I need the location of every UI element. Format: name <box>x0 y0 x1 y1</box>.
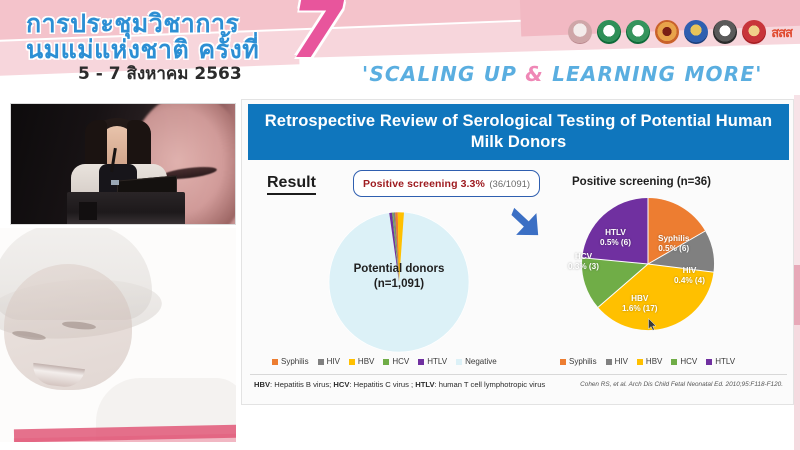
presentation-slide: Retrospective Review of Serological Test… <box>241 99 794 405</box>
legend-label-hcv: HCV <box>392 357 409 366</box>
footnote-hcv-value: : Hepatitis C virus ; <box>349 380 415 389</box>
pie-label-hbv: HBV 1.6% (17) <box>622 294 658 314</box>
legend-label-hiv: HIV <box>327 357 340 366</box>
conference-edition-number: 7 <box>290 0 344 70</box>
footnote-hcv-key: HCV <box>333 380 349 389</box>
footnote-divider <box>250 374 787 375</box>
abbreviation-footnote: HBV: Hepatitis B virus; HCV: Hepatitis C… <box>254 380 545 389</box>
positive-screening-legend: Syphilis HIV HBV HCV HTLV <box>560 357 735 366</box>
potential-donors-pie-chart: Potential donors (n=1,091) <box>284 204 514 354</box>
pie-label-hiv-value: 0.4% (4) <box>674 276 705 286</box>
conference-header-banner: การประชุมวิชาการ นมแม่แห่งชาติ ครั้งที่ … <box>0 0 800 92</box>
presentation-screenshot: การประชุมวิชาการ นมแม่แห่งชาติ ครั้งที่ … <box>0 0 800 450</box>
pie-label-syphilis: Syphilis 0.5% (6) <box>658 234 689 254</box>
legend-item-htlv: HTLV <box>418 357 447 366</box>
legend-swatch-syphilis <box>272 359 278 365</box>
legend-label-htlv: HTLV <box>715 357 735 366</box>
slide-title: Retrospective Review of Serological Test… <box>248 104 789 160</box>
baby-photo-backdrop <box>0 228 236 442</box>
legend-swatch-hcv <box>671 359 677 365</box>
conference-date: 5 - 7 สิงหาคม 2563 <box>78 60 242 87</box>
mouse-cursor <box>648 318 657 331</box>
legend-swatch-syphilis <box>560 359 566 365</box>
pie-label-hcv-name: HCV <box>568 252 599 262</box>
logo-university-seal-icon <box>713 20 737 44</box>
logo-thaihealth-sss-icon: สสส <box>771 22 792 43</box>
footnote-hbv-value: : Hepatitis B virus; <box>270 380 333 389</box>
positive-screening-pie-chart: Syphilis 0.5% (6) HIV 0.4% (4) HBV 1.6% … <box>562 192 752 350</box>
legend-item-hiv: HIV <box>606 357 628 366</box>
tagline-ampersand: & <box>525 62 544 86</box>
legend-item-hbv: HBV <box>637 357 662 366</box>
legend-swatch-hiv <box>606 359 612 365</box>
logo-royal-emblem-icon <box>684 20 708 44</box>
potential-donors-label-line2: (n=1,091) <box>284 277 514 292</box>
legend-item-syphilis: Syphilis <box>560 357 597 366</box>
pie-label-hbv-name: HBV <box>622 294 658 304</box>
speaker-name-badge <box>111 180 119 185</box>
legend-swatch-htlv <box>418 359 424 365</box>
legend-swatch-hbv <box>637 359 643 365</box>
callout-percent: Positive screening 3.3% <box>363 178 485 190</box>
speaker-webcam-feed <box>10 103 236 225</box>
legend-item-hcv: HCV <box>383 357 409 366</box>
legend-item-negative: Negative <box>456 357 497 366</box>
potential-donors-center-label: Potential donors (n=1,091) <box>284 262 514 292</box>
legend-item-hbv: HBV <box>349 357 374 366</box>
potential-donors-label-line1: Potential donors <box>284 262 514 277</box>
legend-swatch-negative <box>456 359 462 365</box>
legend-item-syphilis: Syphilis <box>272 357 309 366</box>
legend-label-hbv: HBV <box>646 357 662 366</box>
legend-swatch-hiv <box>318 359 324 365</box>
pie-label-htlv-value: 0.5% (6) <box>600 238 631 248</box>
sponsor-logo-row: สสส <box>568 20 792 44</box>
legend-label-htlv: HTLV <box>427 357 447 366</box>
tagline-post: LEARNING MORE' <box>544 62 763 86</box>
logo-nursing-council-icon <box>626 20 650 44</box>
legend-swatch-hbv <box>349 359 355 365</box>
legend-swatch-htlv <box>706 359 712 365</box>
podium-panel <box>79 202 97 220</box>
pie-label-hcv: HCV 0.3% (3) <box>568 252 599 272</box>
legend-swatch-hcv <box>383 359 389 365</box>
footnote-htlv-value: : human T cell lymphotropic virus <box>435 380 546 389</box>
legend-item-hcv: HCV <box>671 357 697 366</box>
pie-label-hiv: HIV 0.4% (4) <box>674 266 705 286</box>
source-citation: Cohen RS, et al. Arch Dis Child Fetal Ne… <box>580 381 783 388</box>
potential-donors-legend: Syphilis HIV HBV HCV HTLV Negative <box>272 357 497 366</box>
legend-item-htlv: HTLV <box>706 357 735 366</box>
conference-tagline: 'SCALING UP & LEARNING MORE' <box>362 62 763 86</box>
logo-red-seal-icon <box>742 20 766 44</box>
legend-label-hiv: HIV <box>615 357 628 366</box>
logo-medical-council-icon <box>597 20 621 44</box>
result-heading: Result <box>267 174 316 195</box>
legend-label-syphilis: Syphilis <box>281 357 309 366</box>
right-edge-strip-pink <box>794 265 800 325</box>
legend-label-hbv: HBV <box>358 357 374 366</box>
legend-label-syphilis: Syphilis <box>569 357 597 366</box>
flow-arrow-icon <box>503 196 557 250</box>
positive-screening-chart-title: Positive screening (n=36) <box>572 176 711 188</box>
pie-label-htlv: HTLV 0.5% (6) <box>600 228 631 248</box>
right-edge-strip-light <box>794 95 800 265</box>
pie-label-htlv-name: HTLV <box>600 228 631 238</box>
legend-label-negative: Negative <box>465 357 497 366</box>
legend-item-hiv: HIV <box>318 357 340 366</box>
footnote-hbv-key: HBV <box>254 380 270 389</box>
footnote-htlv-key: HTLV <box>415 380 434 389</box>
pie-label-hcv-value: 0.3% (3) <box>568 262 599 272</box>
tagline-pre: 'SCALING UP <box>362 62 525 86</box>
positive-screening-callout: Positive screening 3.3% (36/1091) <box>353 170 540 197</box>
legend-label-hcv: HCV <box>680 357 697 366</box>
pie-label-syphilis-name: Syphilis <box>658 234 689 244</box>
pie-label-syphilis-value: 0.5% (6) <box>658 244 689 254</box>
callout-fraction: (36/1091) <box>489 179 530 190</box>
right-edge-strip-pale <box>794 325 800 450</box>
pie-label-hbv-value: 1.6% (17) <box>622 304 658 314</box>
logo-foundation-1-icon <box>568 20 592 44</box>
logo-ministry-public-health-icon <box>655 20 679 44</box>
pie-label-hiv-name: HIV <box>674 266 705 276</box>
